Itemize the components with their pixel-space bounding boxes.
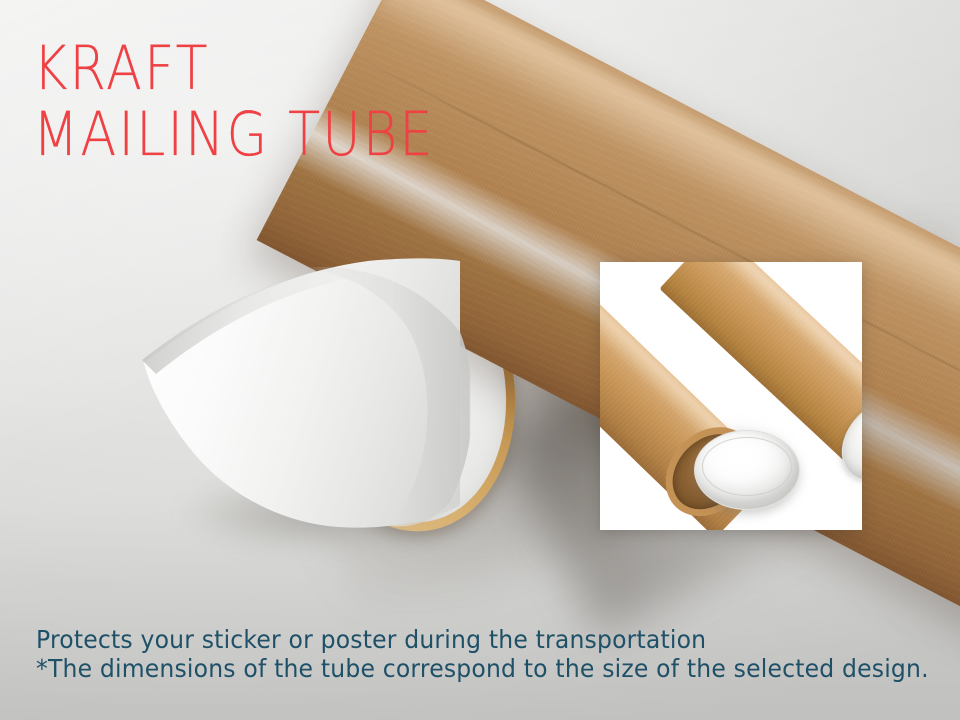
loose-end-cap (694, 430, 800, 510)
poster-canvas: KRAFTMAILING TUBE Protects your sticker … (0, 0, 960, 720)
page-title: KRAFTMAILING TUBE (33, 36, 566, 168)
loose-end-cap-lip (702, 437, 792, 496)
feature-copy: Protects your sticker or poster during t… (36, 557, 769, 720)
headline-line-1: KRAFT (33, 33, 210, 104)
headline-line-2: MAILING TUBE (33, 102, 566, 168)
product-photo-inset[interactable] (600, 262, 862, 530)
footnote-text: *The dimensions of the tube correspond t… (36, 654, 929, 683)
feature-copy-line-1: Protects your sticker or poster during t… (36, 623, 769, 656)
